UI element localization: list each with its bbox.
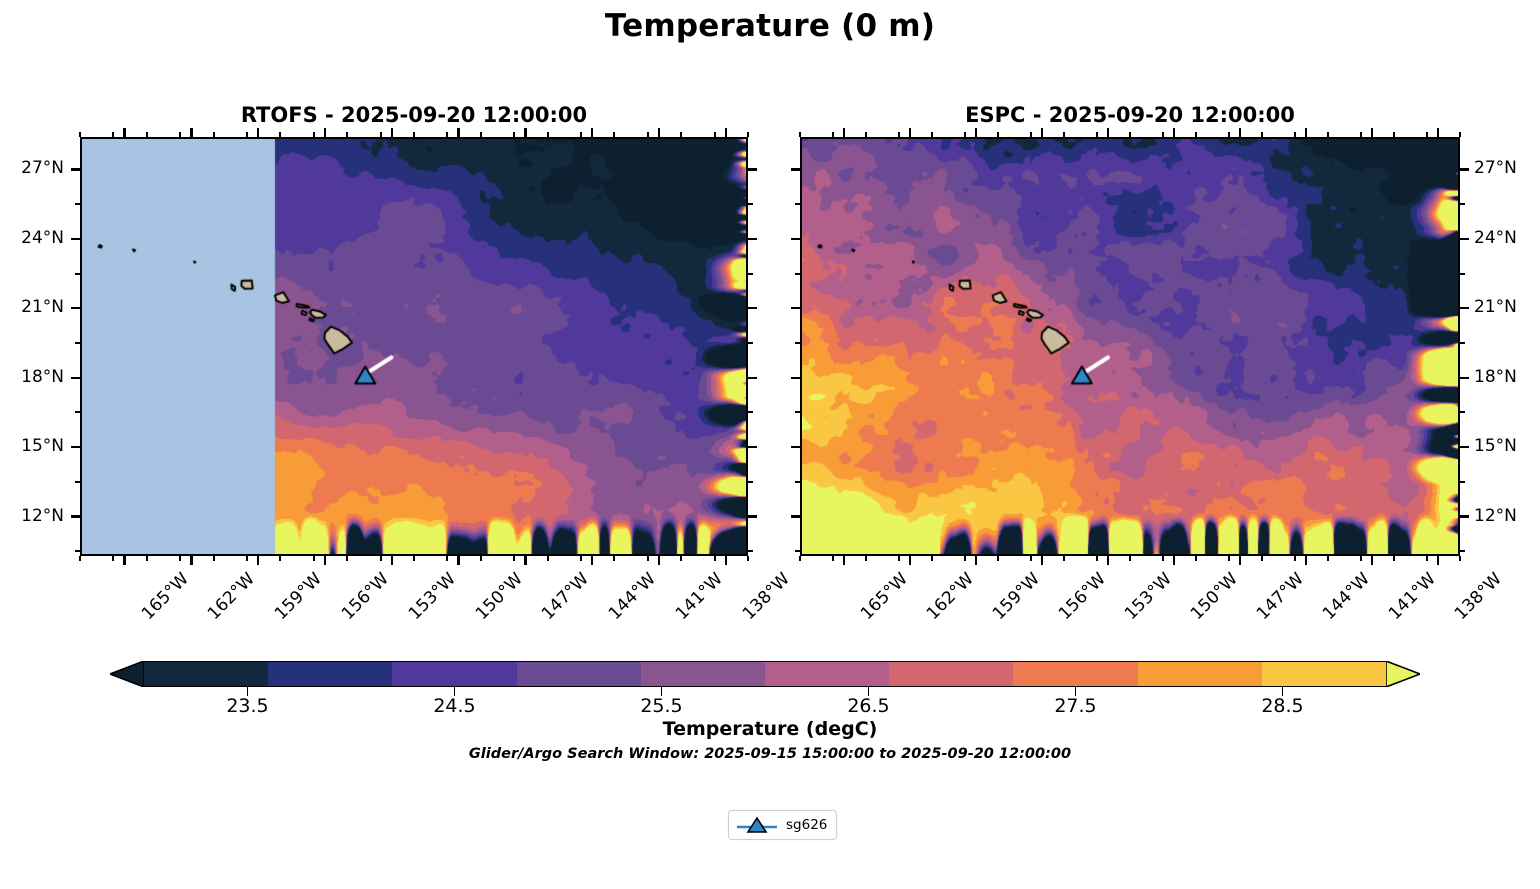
colorbar-extend-high	[1386, 661, 1420, 687]
x-tick-label-147°W: 147°W	[1253, 569, 1308, 624]
colorbar[interactable]	[110, 661, 1420, 687]
x-major-tick-top	[1239, 128, 1241, 137]
x-tick-label-150°W: 150°W	[1187, 569, 1242, 624]
y-major-tick	[71, 377, 80, 379]
x-minor-tick-top	[279, 132, 281, 137]
x-major-tick	[975, 556, 977, 565]
colorbar-tick-label: 25.5	[617, 695, 707, 717]
y-minor-tick-right	[748, 481, 753, 483]
x-minor-tick-top	[1195, 132, 1197, 137]
y-minor-tick	[795, 411, 800, 413]
x-minor-tick-top	[79, 132, 81, 137]
x-major-tick-top	[975, 128, 977, 137]
x-minor-tick	[997, 556, 999, 561]
x-major-tick-top	[1107, 128, 1109, 137]
colorbar-extend-low	[110, 661, 144, 687]
y-tick-label-24°N: 24°N	[0, 228, 64, 248]
x-minor-tick	[898, 556, 900, 561]
x-minor-tick-top	[213, 132, 215, 137]
y-minor-tick	[795, 203, 800, 205]
x-minor-tick	[79, 556, 81, 561]
x-minor-tick	[313, 556, 315, 561]
x-major-tick-top	[391, 128, 393, 137]
x-major-tick	[1437, 556, 1439, 565]
x-minor-tick-top	[898, 132, 900, 137]
x-major-tick	[324, 556, 326, 565]
x-major-tick-top	[909, 128, 911, 137]
x-minor-tick	[380, 556, 382, 561]
y-minor-tick-right	[748, 342, 753, 344]
x-minor-tick-top	[146, 132, 148, 137]
x-major-tick	[1173, 556, 1175, 565]
colorbar-tick-label: 24.5	[410, 695, 500, 717]
x-minor-tick	[1360, 556, 1362, 561]
x-minor-tick	[1294, 556, 1296, 561]
x-tick-label-156°W: 156°W	[338, 569, 393, 624]
x-tick-label-165°W: 165°W	[137, 569, 192, 624]
y-major-tick-right	[1460, 307, 1469, 309]
x-minor-tick	[1327, 556, 1329, 561]
x-major-tick-top	[324, 128, 326, 137]
y-major-tick-right	[748, 168, 757, 170]
y-major-tick	[791, 238, 800, 240]
page-title: Temperature (0 m)	[0, 8, 1540, 44]
y-major-tick-right	[748, 238, 757, 240]
x-minor-tick	[179, 556, 181, 561]
x-minor-tick	[1030, 556, 1032, 561]
x-minor-tick-top	[246, 132, 248, 137]
y-major-tick	[71, 238, 80, 240]
x-minor-tick-top	[1063, 132, 1065, 137]
x-minor-tick-top	[413, 132, 415, 137]
x-minor-tick	[112, 556, 114, 561]
x-minor-tick	[1261, 556, 1263, 561]
x-minor-tick-top	[1459, 132, 1461, 137]
y-minor-tick-right	[1460, 342, 1465, 344]
x-major-tick	[524, 556, 526, 565]
map-panel-espc[interactable]	[800, 137, 1460, 556]
x-tick-label-141°W: 141°W	[1385, 569, 1440, 624]
x-minor-tick	[832, 556, 834, 561]
colorbar-segment-9	[1262, 662, 1386, 686]
x-tick-label-150°W: 150°W	[471, 569, 526, 624]
colorbar-segment-7	[1013, 662, 1137, 686]
x-minor-tick	[1063, 556, 1065, 561]
x-minor-tick-top	[1162, 132, 1164, 137]
x-major-tick	[1041, 556, 1043, 565]
x-major-tick-top	[1437, 128, 1439, 137]
x-major-tick	[257, 556, 259, 565]
x-minor-tick-top	[1228, 132, 1230, 137]
x-major-tick-top	[1305, 128, 1307, 137]
y-tick-label-right-21°N: 21°N	[1474, 297, 1540, 317]
x-major-tick-top	[1041, 128, 1043, 137]
x-major-tick	[123, 556, 125, 565]
x-minor-tick	[747, 556, 749, 561]
x-major-tick	[843, 556, 845, 565]
x-minor-tick-top	[997, 132, 999, 137]
x-major-tick-top	[725, 128, 727, 137]
legend-marker-triangle-icon	[735, 816, 779, 834]
y-minor-tick	[75, 342, 80, 344]
x-minor-tick-top	[1327, 132, 1329, 137]
colorbar-segment-6	[889, 662, 1013, 686]
x-minor-tick	[799, 556, 801, 561]
y-major-tick-right	[748, 515, 757, 517]
x-minor-tick-top	[964, 132, 966, 137]
y-minor-tick-right	[1460, 481, 1465, 483]
colorbar-segment-2	[392, 662, 516, 686]
y-minor-tick-right	[748, 203, 753, 205]
x-tick-label-162°W: 162°W	[204, 569, 259, 624]
colorbar-segment-4	[641, 662, 765, 686]
x-minor-tick-top	[1294, 132, 1296, 137]
y-minor-tick-right	[1460, 550, 1465, 552]
colorbar-segment-3	[517, 662, 641, 686]
x-minor-tick	[964, 556, 966, 561]
x-minor-tick-top	[346, 132, 348, 137]
x-minor-tick	[547, 556, 549, 561]
x-major-tick	[591, 556, 593, 565]
y-major-tick-right	[748, 377, 757, 379]
y-minor-tick	[75, 550, 80, 552]
colorbar-segments	[144, 661, 1386, 687]
x-tick-label-159°W: 159°W	[271, 569, 326, 624]
y-tick-label-27°N: 27°N	[0, 158, 64, 178]
y-minor-tick-right	[748, 550, 753, 552]
x-minor-tick-top	[647, 132, 649, 137]
y-minor-tick-right	[1460, 203, 1465, 205]
x-minor-tick-top	[931, 132, 933, 137]
y-minor-tick-right	[748, 273, 753, 275]
map-panel-rtofs[interactable]	[80, 137, 748, 556]
x-major-tick	[1239, 556, 1241, 565]
x-major-tick-top	[591, 128, 593, 137]
x-minor-tick-top	[513, 132, 515, 137]
y-major-tick-right	[1460, 238, 1469, 240]
colorbar-segment-1	[268, 662, 392, 686]
x-tick-label-144°W: 144°W	[1319, 569, 1374, 624]
colorbar-tick-label: 27.5	[1031, 695, 1121, 717]
x-minor-tick-top	[380, 132, 382, 137]
x-minor-tick	[580, 556, 582, 561]
x-major-tick-top	[190, 128, 192, 137]
x-minor-tick-top	[179, 132, 181, 137]
x-minor-tick	[213, 556, 215, 561]
y-tick-label-right-24°N: 24°N	[1474, 228, 1540, 248]
x-minor-tick-top	[580, 132, 582, 137]
y-major-tick-right	[748, 446, 757, 448]
y-major-tick	[71, 446, 80, 448]
x-major-tick-top	[843, 128, 845, 137]
y-major-tick	[791, 446, 800, 448]
x-tick-label-138°W: 138°W	[739, 569, 794, 624]
x-tick-label-153°W: 153°W	[405, 569, 460, 624]
y-minor-tick	[75, 481, 80, 483]
colorbar-segment-8	[1138, 662, 1262, 686]
panel-title-espc: ESPC - 2025-09-20 12:00:00	[800, 103, 1460, 127]
panel-title-rtofs: RTOFS - 2025-09-20 12:00:00	[80, 103, 748, 127]
y-minor-tick	[795, 481, 800, 483]
legend-item-label: sg626	[786, 817, 827, 833]
x-major-tick	[909, 556, 911, 565]
legend[interactable]: sg626	[728, 810, 837, 840]
y-tick-label-18°N: 18°N	[0, 367, 64, 387]
x-major-tick	[1371, 556, 1373, 565]
x-minor-tick	[1393, 556, 1395, 561]
y-major-tick-right	[1460, 377, 1469, 379]
y-minor-tick	[75, 273, 80, 275]
x-minor-tick	[1162, 556, 1164, 561]
y-major-tick-right	[748, 307, 757, 309]
x-minor-tick	[647, 556, 649, 561]
figure-canvas: Temperature (0 m) RTOFS - 2025-09-20 12:…	[0, 0, 1540, 889]
x-minor-tick-top	[313, 132, 315, 137]
x-minor-tick-top	[865, 132, 867, 137]
x-minor-tick	[613, 556, 615, 561]
x-major-tick	[457, 556, 459, 565]
y-tick-label-21°N: 21°N	[0, 297, 64, 317]
x-minor-tick	[931, 556, 933, 561]
y-tick-label-right-12°N: 12°N	[1474, 506, 1540, 526]
x-major-tick-top	[524, 128, 526, 137]
x-minor-tick	[246, 556, 248, 561]
x-minor-tick	[279, 556, 281, 561]
y-major-tick-right	[1460, 515, 1469, 517]
y-major-tick-right	[1460, 446, 1469, 448]
x-major-tick-top	[257, 128, 259, 137]
x-minor-tick-top	[613, 132, 615, 137]
sst-field-espc	[802, 139, 1458, 554]
y-minor-tick-right	[748, 411, 753, 413]
y-major-tick	[791, 168, 800, 170]
x-minor-tick	[513, 556, 515, 561]
x-major-tick	[658, 556, 660, 565]
y-major-tick-right	[1460, 168, 1469, 170]
x-minor-tick-top	[1426, 132, 1428, 137]
x-minor-tick	[346, 556, 348, 561]
x-major-tick	[391, 556, 393, 565]
x-major-tick	[1305, 556, 1307, 565]
sst-field-rtofs	[82, 139, 746, 554]
x-major-tick-top	[457, 128, 459, 137]
x-minor-tick	[680, 556, 682, 561]
y-major-tick	[71, 307, 80, 309]
x-minor-tick-top	[832, 132, 834, 137]
x-tick-label-144°W: 144°W	[605, 569, 660, 624]
colorbar-tick-label: 23.5	[203, 695, 293, 717]
y-minor-tick	[795, 342, 800, 344]
colorbar-segment-0	[144, 662, 268, 686]
x-minor-tick-top	[799, 132, 801, 137]
colorbar-tick-label: 26.5	[824, 695, 914, 717]
y-tick-label-right-27°N: 27°N	[1474, 158, 1540, 178]
x-major-tick-top	[123, 128, 125, 137]
x-major-tick	[725, 556, 727, 565]
x-tick-label-162°W: 162°W	[923, 569, 978, 624]
x-minor-tick-top	[680, 132, 682, 137]
x-major-tick-top	[1371, 128, 1373, 137]
x-major-tick	[1107, 556, 1109, 565]
x-major-tick-top	[1173, 128, 1175, 137]
x-minor-tick	[1459, 556, 1461, 561]
y-tick-label-15°N: 15°N	[0, 436, 64, 456]
x-minor-tick-top	[112, 132, 114, 137]
x-tick-label-138°W: 138°W	[1451, 569, 1506, 624]
y-tick-label-12°N: 12°N	[0, 506, 64, 526]
x-minor-tick	[446, 556, 448, 561]
y-minor-tick	[795, 273, 800, 275]
x-minor-tick-top	[446, 132, 448, 137]
y-minor-tick-right	[1460, 273, 1465, 275]
y-major-tick	[71, 168, 80, 170]
search-window-note: Glider/Argo Search Window: 2025-09-15 15…	[0, 746, 1540, 762]
x-tick-label-153°W: 153°W	[1121, 569, 1176, 624]
x-tick-label-159°W: 159°W	[989, 569, 1044, 624]
y-minor-tick	[75, 411, 80, 413]
y-tick-label-right-18°N: 18°N	[1474, 367, 1540, 387]
colorbar-tick-label: 28.5	[1238, 695, 1328, 717]
x-minor-tick	[413, 556, 415, 561]
y-minor-tick	[795, 550, 800, 552]
x-tick-label-165°W: 165°W	[857, 569, 912, 624]
x-tick-label-147°W: 147°W	[538, 569, 593, 624]
y-minor-tick-right	[1460, 411, 1465, 413]
x-minor-tick-top	[480, 132, 482, 137]
y-major-tick	[71, 515, 80, 517]
colorbar-label: Temperature (degC)	[0, 718, 1540, 740]
x-minor-tick	[714, 556, 716, 561]
x-minor-tick-top	[1360, 132, 1362, 137]
x-minor-tick	[1426, 556, 1428, 561]
x-minor-tick	[146, 556, 148, 561]
x-major-tick	[190, 556, 192, 565]
x-minor-tick-top	[1096, 132, 1098, 137]
x-minor-tick-top	[1129, 132, 1131, 137]
x-minor-tick-top	[1393, 132, 1395, 137]
x-tick-label-156°W: 156°W	[1055, 569, 1110, 624]
x-minor-tick-top	[714, 132, 716, 137]
x-minor-tick	[1195, 556, 1197, 561]
x-minor-tick	[1129, 556, 1131, 561]
y-major-tick	[791, 515, 800, 517]
colorbar-segment-5	[765, 662, 889, 686]
x-minor-tick-top	[747, 132, 749, 137]
y-major-tick	[791, 307, 800, 309]
x-minor-tick	[480, 556, 482, 561]
x-minor-tick	[1228, 556, 1230, 561]
x-minor-tick	[1096, 556, 1098, 561]
x-minor-tick-top	[547, 132, 549, 137]
y-major-tick	[791, 377, 800, 379]
x-minor-tick-top	[1030, 132, 1032, 137]
x-minor-tick-top	[1261, 132, 1263, 137]
y-minor-tick	[75, 203, 80, 205]
x-tick-label-141°W: 141°W	[672, 569, 727, 624]
x-major-tick-top	[658, 128, 660, 137]
x-minor-tick	[865, 556, 867, 561]
y-tick-label-right-15°N: 15°N	[1474, 436, 1540, 456]
